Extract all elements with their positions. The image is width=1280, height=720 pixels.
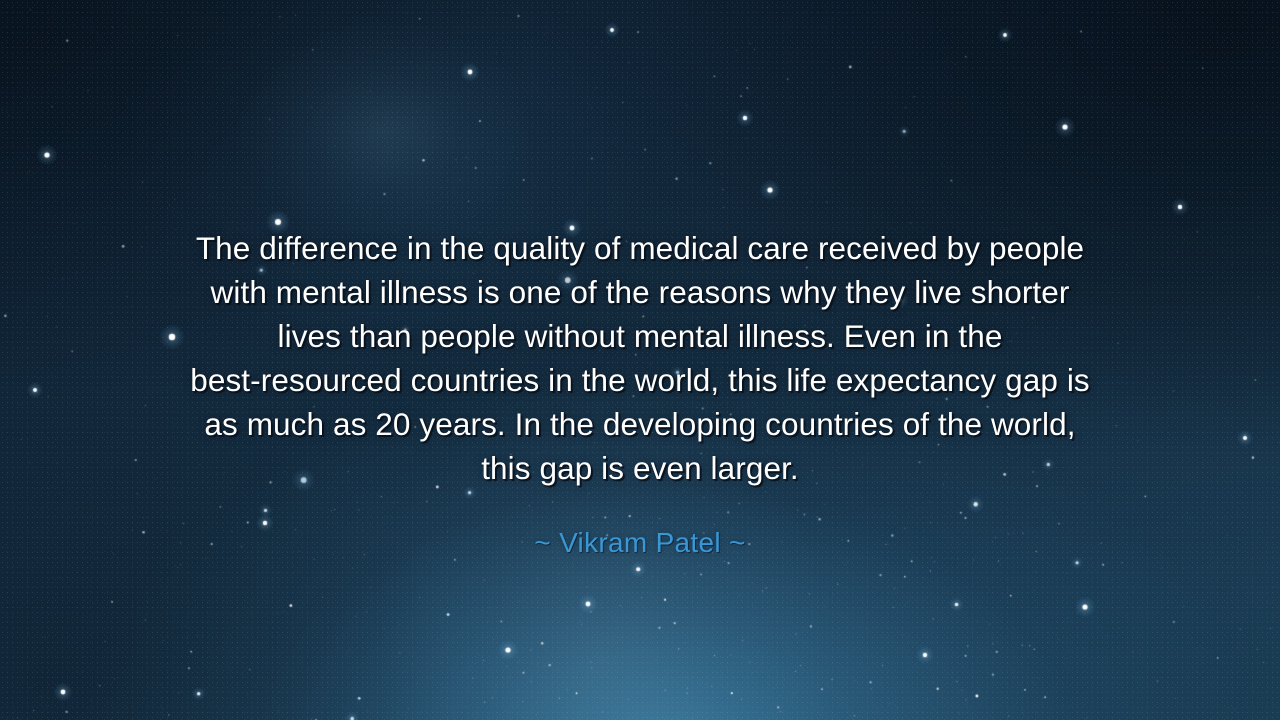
quote-attribution: ~ Vikram Patel ~ bbox=[0, 526, 1280, 560]
quote-text: The difference in the quality of medical… bbox=[120, 226, 1160, 490]
quote-block: The difference in the quality of medical… bbox=[0, 226, 1280, 560]
quote-card-stage: The difference in the quality of medical… bbox=[0, 0, 1280, 720]
